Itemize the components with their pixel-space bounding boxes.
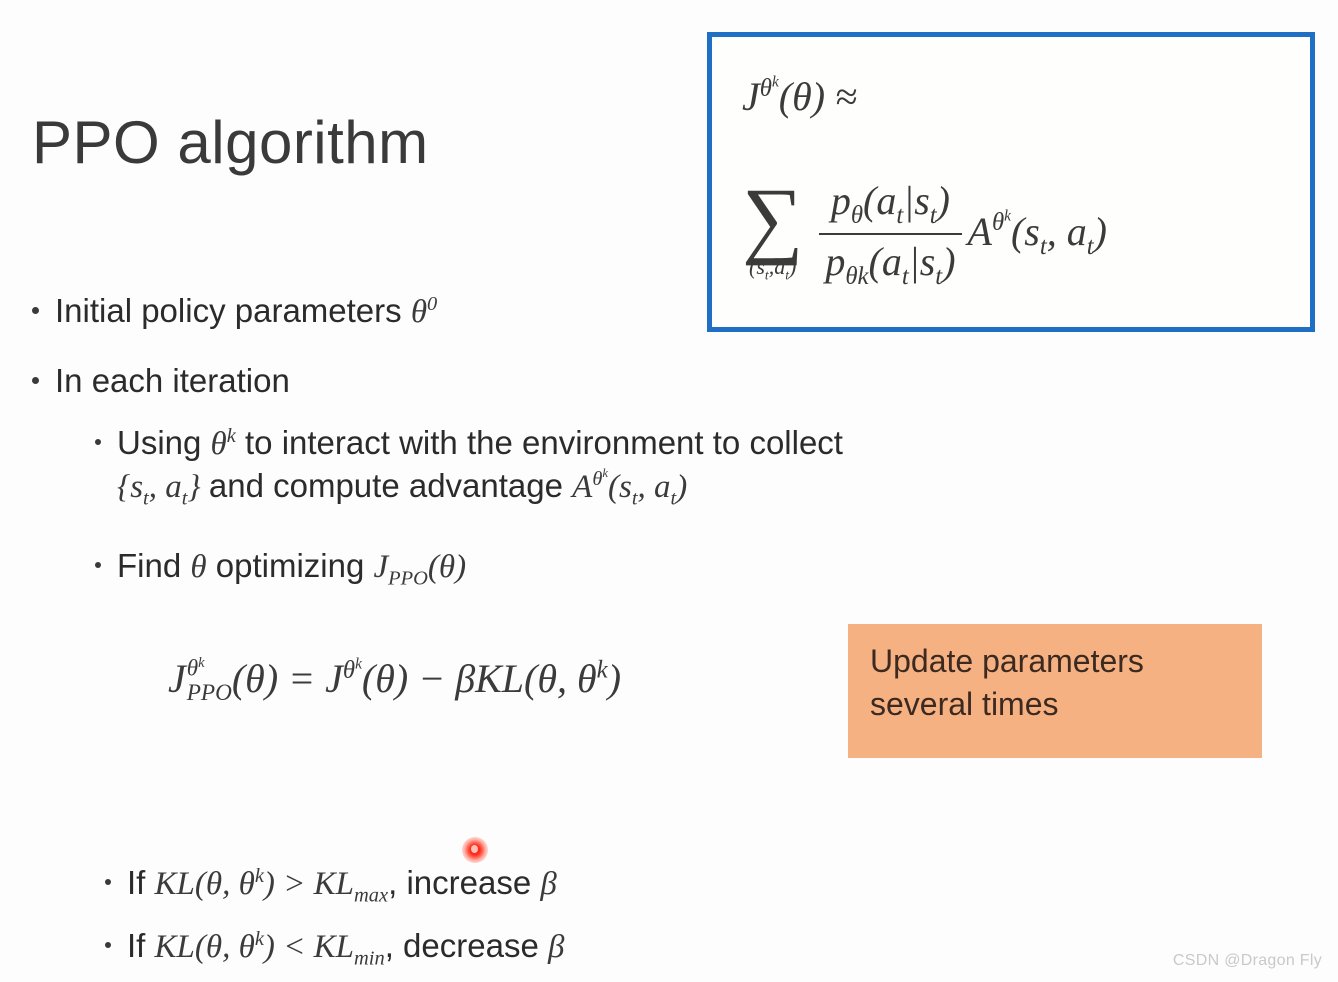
update-parameters-callout: Update parameters several times [848, 624, 1262, 758]
adv-theta: θ [992, 209, 1004, 236]
formula-J-sup-theta: θ [760, 75, 772, 102]
klmax-close: ) [264, 866, 275, 902]
ppo-J-sub-sup: θkPPO [187, 656, 232, 705]
using-theta: θ [211, 426, 227, 462]
bullet-initial-policy-label: Initial policy parameters θ0 [55, 290, 437, 333]
theta-symbol: θ [411, 294, 427, 330]
find-J-arg: (θ) [428, 549, 466, 585]
bullet-using-theta: Using θk to interact with the environmen… [95, 422, 843, 512]
klmin-if: If [127, 927, 155, 964]
ppo-J2-k: k [355, 655, 362, 672]
adv-A: A [968, 209, 992, 254]
klmax-open: (θ, θ [195, 866, 255, 902]
advantage-term: Aθk(st, at) [968, 208, 1107, 261]
num-theta: θ [851, 202, 863, 229]
num-close: ) [937, 178, 950, 223]
using-part2: to interact with the environment to coll… [236, 424, 843, 461]
klmin-open: (θ, θ [195, 929, 255, 965]
klmax-kl2: KL [314, 866, 354, 902]
page-title: PPO algorithm [32, 108, 429, 177]
bullet-initial-policy: Initial policy parameters θ0 [32, 290, 437, 333]
callout-line-2: several times [870, 683, 1242, 726]
klmin-close: ) [264, 929, 275, 965]
find-theta: θ [190, 549, 206, 585]
using-adv-A: A [572, 469, 592, 505]
num-p: p [831, 178, 851, 223]
den-close: ) [942, 239, 955, 284]
using-adv-s: (s [608, 469, 632, 505]
den-t1: t [902, 263, 909, 290]
ppo-kl: KL [475, 656, 524, 701]
laser-pointer-icon [462, 837, 488, 863]
adv-k: k [1004, 208, 1011, 225]
fraction-denominator: pθk(at|st) [819, 233, 961, 291]
adv-close: ) [1094, 209, 1107, 254]
klmin-kl2: KL [314, 929, 354, 965]
theta-superscript-0: 0 [427, 293, 437, 315]
using-line2-text: and compute advantage [209, 467, 572, 504]
den-s: |s [909, 239, 936, 284]
sigma-sub-close: ) [789, 254, 796, 279]
formula-J-sup-k: k [772, 73, 779, 90]
bullet-kl-min-rule-label: If KL(θ, θk) < KLmin, decrease β [127, 925, 564, 972]
using-adv-a: , a [638, 469, 671, 505]
klmin-beta: β [548, 929, 564, 965]
bullet-in-each-iteration-label: In each iteration [55, 360, 290, 402]
ppo-beta: β [455, 656, 475, 701]
objective-formula-box: Jθk(θ) ≈ ∑ (st,at) pθ(at|st) pθk(at|st) … [707, 32, 1315, 332]
klmax-kl: KL [155, 866, 195, 902]
find-J: J [374, 549, 389, 585]
den-k: k [858, 263, 869, 290]
adv-a: , a [1047, 209, 1087, 254]
ppo-kl-close: ) [608, 656, 621, 701]
sigma-subscript: (st,at) [749, 254, 796, 283]
sigma-sub-a: ,a [769, 254, 786, 279]
sigma-icon: ∑ [742, 185, 803, 252]
ppo-J-sup-k: k [198, 655, 204, 671]
watermark: CSDN @Dragon Fly [1173, 952, 1322, 970]
set-close: } [187, 469, 208, 505]
ppo-J-sup: θk [187, 656, 205, 681]
bullet-in-each-iteration: In each iteration [32, 360, 290, 402]
adv-t1: t [1040, 233, 1047, 260]
klmin-kl2-sub: min [354, 948, 385, 970]
bullet-kl-max-rule: If KL(θ, θk) > KLmax, increase β [105, 862, 557, 909]
formula-J-arg: (θ) ≈ [779, 74, 857, 119]
klmax-k: k [255, 865, 264, 887]
klmax-op: > [275, 866, 314, 902]
set-open: {s [117, 469, 143, 505]
klmin-k: k [255, 928, 264, 950]
num-t2: t [930, 202, 937, 229]
klmin-kl: KL [155, 929, 195, 965]
ppo-J-sub: PPO [187, 682, 232, 706]
den-p: p [825, 239, 845, 284]
ppo-objective-formula: JθkPPO(θ) = Jθk(θ) − βKL(θ, θk) [168, 655, 621, 707]
klmax-beta: β [540, 866, 556, 902]
using-adv-theta: θ [592, 468, 602, 490]
bullet-find-theta: Find θ optimizing JPPO(θ) [95, 545, 466, 592]
bullet-dot-icon [105, 879, 111, 885]
den-a: (a [869, 239, 902, 284]
callout-line-1: Update parameters [870, 640, 1242, 683]
klmax-if: If [127, 864, 155, 901]
ppo-arg2: (θ) − [362, 656, 455, 701]
bullet-initial-text: Initial policy parameters [55, 292, 411, 329]
find-J-sub: PPO [388, 568, 428, 590]
bullet-dot-icon [32, 377, 39, 384]
using-theta-sup-k: k [227, 425, 236, 447]
bullet-dot-icon [95, 562, 101, 568]
ppo-arg1: (θ) = [232, 656, 325, 701]
bullet-kl-min-rule: If KL(θ, θk) < KLmin, decrease β [105, 925, 564, 972]
using-adv-close: ) [676, 469, 687, 505]
ppo-J-sup-theta: θ [187, 656, 198, 682]
num-a: (a [863, 178, 896, 223]
klmax-tail: , increase [388, 864, 540, 901]
find-part2: optimizing [207, 547, 374, 584]
klmax-kl2-sub: max [354, 885, 388, 907]
using-part1: Using [117, 424, 211, 461]
summation-symbol: ∑ (st,at) [742, 185, 803, 283]
adv-s: (s [1011, 209, 1040, 254]
bullet-dot-icon [105, 942, 111, 948]
formula-line-1: Jθk(θ) ≈ [742, 73, 857, 120]
probability-ratio-fraction: pθ(at|st) pθk(at|st) [819, 177, 961, 291]
formula-J: J [742, 74, 760, 119]
ppo-J2-theta: θ [343, 657, 355, 684]
ppo-kl-k: k [597, 657, 608, 684]
ppo-kl-open: (θ, θ [524, 656, 597, 701]
bullet-find-theta-label: Find θ optimizing JPPO(θ) [117, 545, 466, 592]
klmin-tail: , decrease [385, 927, 548, 964]
ppo-J: J [168, 656, 186, 701]
adv-t2: t [1087, 233, 1094, 260]
find-part1: Find [117, 547, 190, 584]
ppo-J2: J [325, 656, 343, 701]
fraction-numerator: pθ(at|st) [825, 177, 956, 233]
sigma-sub-s: (s [749, 254, 765, 279]
formula-line-2: ∑ (st,at) pθ(at|st) pθk(at|st) Aθk(st, a… [742, 177, 1107, 291]
set-a: , a [149, 469, 182, 505]
bullet-using-theta-label: Using θk to interact with the environmen… [117, 422, 843, 512]
klmin-op: < [275, 929, 314, 965]
num-s: |s [903, 178, 930, 223]
bullet-dot-icon [95, 439, 101, 445]
den-theta: θ [845, 263, 857, 290]
bullet-kl-max-rule-label: If KL(θ, θk) > KLmax, increase β [127, 862, 557, 909]
bullet-dot-icon [32, 307, 39, 314]
